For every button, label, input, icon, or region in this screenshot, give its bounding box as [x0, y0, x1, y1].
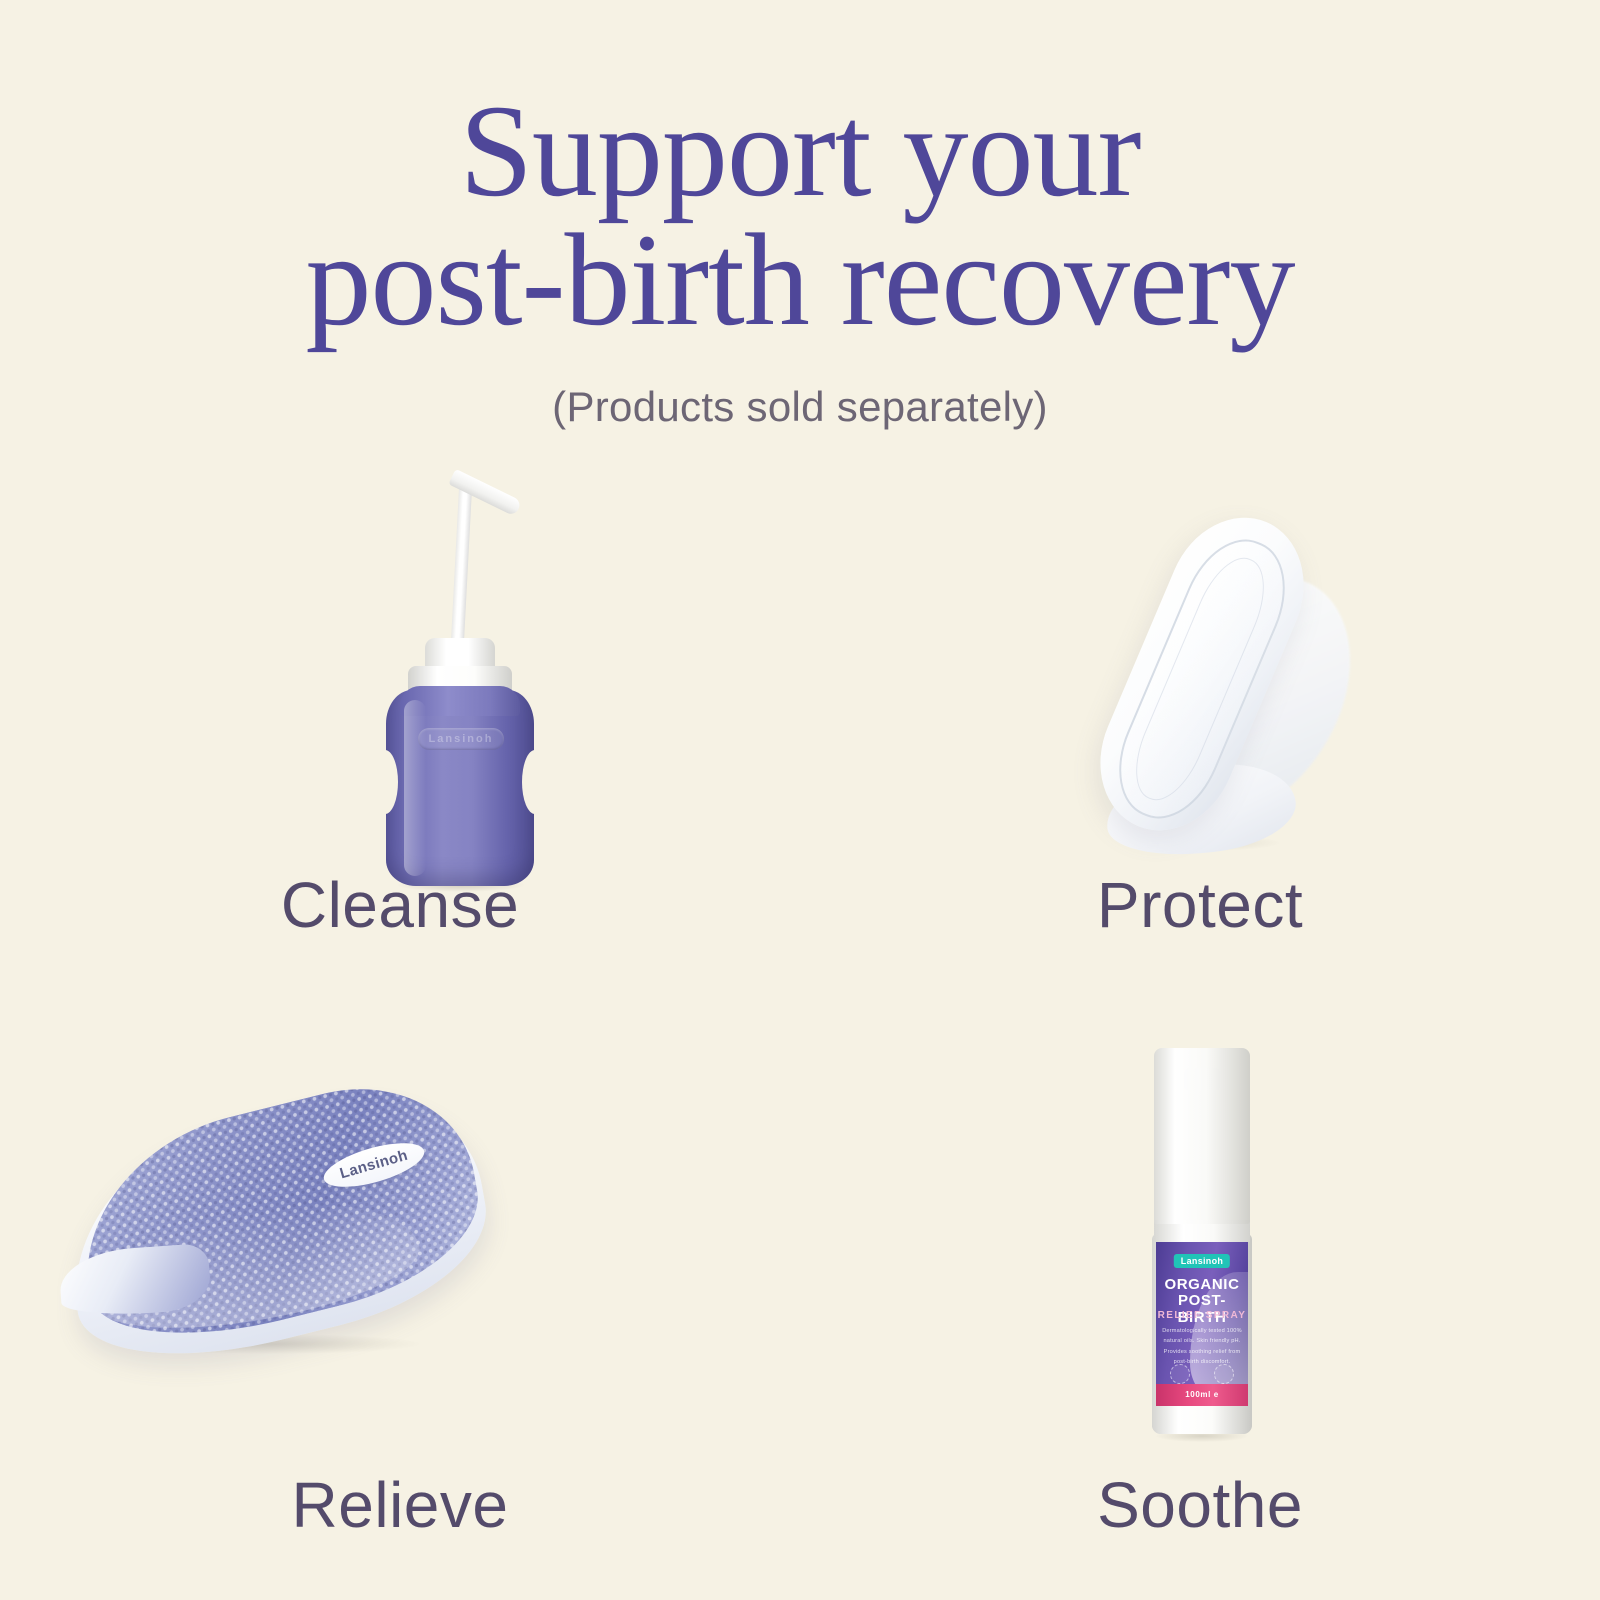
product-cell-cleanse: Lansinoh Cleanse — [0, 440, 800, 1020]
caption-soothe: Soothe — [800, 1468, 1600, 1542]
relief-spray-volume-band: 100ml e — [1156, 1384, 1248, 1406]
peri-bottle-image: Lansinoh — [0, 440, 800, 880]
cooling-gel-pad-image: Lansinoh — [0, 1020, 800, 1460]
relief-spray-label: Lansinoh ORGANIC POST-BIRTH RELIEF SPRAY… — [1156, 1242, 1248, 1392]
header: Support your post-birth recovery (Produc… — [0, 86, 1600, 431]
page-title: Support your post-birth recovery — [0, 86, 1600, 345]
product-cell-soothe: Lansinoh ORGANIC POST-BIRTH RELIEF SPRAY… — [800, 1020, 1600, 1600]
relief-spray-certifications — [1170, 1364, 1234, 1384]
cooling-gel-pad: Lansinoh — [60, 1090, 500, 1390]
peri-bottle-waist-left — [372, 750, 398, 814]
peri-bottle-shoulder — [400, 686, 520, 716]
maternity-pad-image — [800, 440, 1600, 880]
caption-protect: Protect — [800, 868, 1600, 942]
headline-line-1: Support your — [0, 86, 1600, 215]
product-grid: Lansinoh Cleanse Protect — [0, 440, 1600, 1600]
relief-spray-image: Lansinoh ORGANIC POST-BIRTH RELIEF SPRAY… — [800, 1020, 1600, 1460]
subtitle-disclaimer: (Products sold separately) — [0, 383, 1600, 431]
relief-spray-bottle: Lansinoh ORGANIC POST-BIRTH RELIEF SPRAY… — [1100, 1030, 1300, 1450]
product-cell-relieve: Lansinoh Relieve — [0, 1020, 800, 1600]
recycle-cert-icon — [1214, 1364, 1234, 1384]
headline-line-2: post-birth recovery — [0, 215, 1600, 344]
maternity-pad — [1050, 475, 1370, 875]
relief-spray-copy-line-3: Provides soothing relief from — [1162, 1347, 1242, 1357]
peri-bottle-nozzle-stem — [450, 482, 472, 660]
relief-spray-body-copy: Dermatologically tested 100% natural oil… — [1162, 1326, 1242, 1367]
caption-cleanse: Cleanse — [0, 868, 800, 942]
caption-relieve: Relieve — [0, 1468, 800, 1542]
relief-spray-title-line-1: ORGANIC — [1156, 1276, 1248, 1293]
relief-spray-copy-line-1: Dermatologically tested 100% — [1162, 1326, 1242, 1336]
marketing-image: Support your post-birth recovery (Produc… — [0, 0, 1600, 1600]
peri-bottle-brand-emboss: Lansinoh — [418, 728, 504, 750]
product-cell-protect: Protect — [800, 440, 1600, 1020]
lansinoh-logo: Lansinoh — [1174, 1254, 1230, 1268]
organic-cert-icon — [1170, 1364, 1190, 1384]
peri-bottle-body — [386, 690, 534, 886]
cooling-gel-pad-surface — [65, 1061, 491, 1365]
relief-spray-subtitle: RELIEF SPRAY — [1156, 1310, 1248, 1321]
peri-bottle-waist-right — [522, 750, 548, 814]
relief-spray-copy-line-2: natural oils. Skin friendly pH. — [1162, 1336, 1242, 1346]
relief-spray-overcap — [1154, 1048, 1250, 1224]
peri-bottle: Lansinoh — [330, 460, 590, 870]
